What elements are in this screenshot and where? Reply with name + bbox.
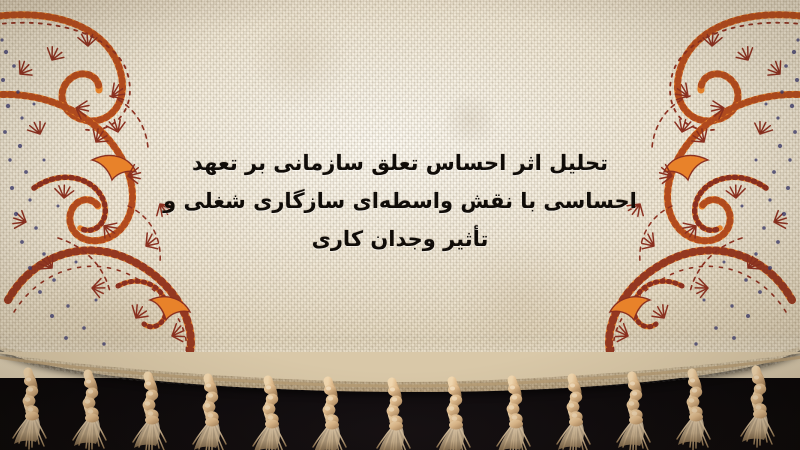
tassel-fringe: [0, 352, 800, 450]
title-line-1: تحلیل اثر احساس تعلق سازمانی بر تعهد: [0, 144, 800, 182]
title-line-3: تأثیر وجدان کاری: [0, 220, 800, 258]
slide-canvas: تحلیل اثر احساس تعلق سازمانی بر تعهد احس…: [0, 0, 800, 450]
title-line-2: احساسی با نقش واسطه‌ای سازگاری شغلی و: [0, 182, 800, 220]
slide-title: تحلیل اثر احساس تعلق سازمانی بر تعهد احس…: [0, 144, 800, 258]
tassel-row: [13, 370, 774, 450]
